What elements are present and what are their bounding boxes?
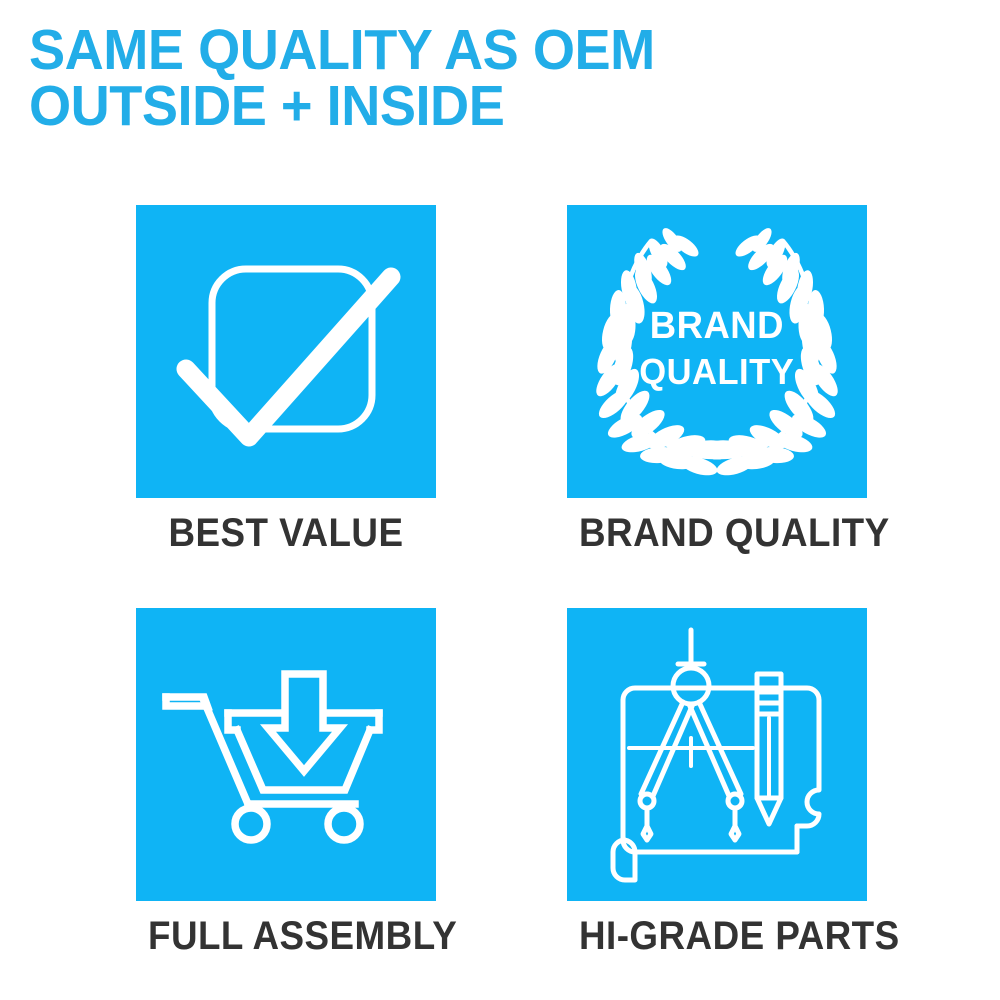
feature-card-label: HI-GRADE PARTS	[579, 914, 855, 958]
feature-icon-tile	[136, 608, 436, 901]
feature-icon-tile	[567, 608, 867, 901]
feature-icon-tile: BRAND QUALITY	[567, 205, 867, 498]
feature-card-label: BRAND QUALITY	[579, 511, 855, 555]
blueprint-compass-pencil-icon	[567, 608, 867, 901]
download-arrow-icon	[268, 674, 340, 771]
feature-icon-tile	[136, 205, 436, 498]
blueprint-scroll-right-curl	[797, 688, 819, 826]
feature-card-best-value[interactable]: BEST VALUE	[136, 205, 436, 555]
shopping-cart-download-icon	[136, 608, 436, 901]
feature-grid: BEST VALUE	[0, 0, 1000, 1000]
feature-card-brand-quality[interactable]: BRAND QUALITY BRAND QUALITY	[567, 205, 867, 555]
feature-card-hi-grade-parts[interactable]: HI-GRADE PARTS	[567, 608, 867, 958]
feature-card-label: BEST VALUE	[148, 511, 424, 555]
checkbox-check-icon	[136, 205, 436, 498]
laurel-wreath-icon	[567, 205, 867, 498]
feature-card-label: FULL ASSEMBLY	[148, 914, 424, 958]
promo-graphic: SAME QUALITY AS OEM OUTSIDE + INSIDE BES…	[0, 0, 1000, 1000]
feature-card-full-assembly[interactable]: FULL ASSEMBLY	[136, 608, 436, 958]
